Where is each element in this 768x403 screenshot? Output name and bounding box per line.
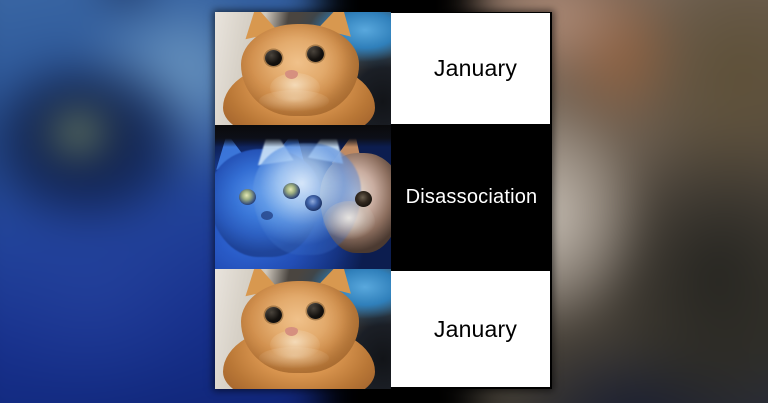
cat-eye-right: [307, 46, 324, 62]
meme-row-1: January: [215, 12, 552, 125]
meme-row-3: January: [215, 269, 552, 389]
caption-text-middle: Disassociation: [406, 186, 538, 209]
cat-chin: [259, 347, 329, 369]
caption-text-bottom: January: [434, 316, 517, 343]
cat-eye-right: [307, 303, 324, 319]
blue-cat-scene: [215, 125, 391, 269]
orange-cat-scene: [215, 12, 391, 125]
cat-chin: [259, 90, 329, 112]
caption-cell-middle: Disassociation: [391, 125, 552, 269]
meme-row-2: Disassociation: [215, 125, 552, 269]
orange-cat-photo-top: [215, 12, 391, 125]
caption-cell-bottom: January: [391, 271, 550, 387]
caption-text-top: January: [434, 55, 517, 82]
orange-cat-scene: [215, 269, 391, 389]
three-panel-cat-meme: January: [215, 12, 552, 389]
cat-eye-left: [265, 50, 282, 66]
cat-eye-left: [265, 307, 282, 323]
photo-top-shadow: [215, 125, 391, 147]
orange-cat-photo-bottom: [215, 269, 391, 389]
screenshot-stage: January: [0, 0, 768, 403]
blue-disassociated-cat-photo: [215, 125, 391, 269]
caption-cell-top: January: [391, 13, 550, 124]
